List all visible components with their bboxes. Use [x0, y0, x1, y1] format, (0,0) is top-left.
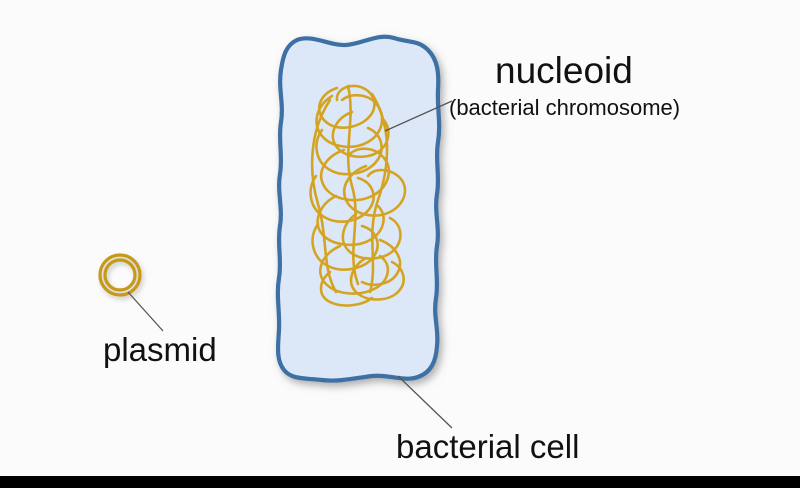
cell-membrane-path — [278, 37, 439, 381]
label-nucleoid-subtitle: (bacterial chromosome) — [449, 97, 680, 119]
bacterial-cell-illustration — [0, 0, 800, 488]
label-bacterial-cell: bacterial cell — [396, 430, 579, 463]
leader-line-plasmid — [128, 292, 163, 331]
label-plasmid: plasmid — [103, 333, 217, 366]
plasmid-inner-ring — [105, 260, 135, 290]
bottom-black-bar — [0, 476, 800, 488]
plasmid-ring-group — [100, 255, 140, 295]
diagram-canvas: nucleoid (bacterial chromosome) plasmid … — [0, 0, 800, 488]
bacterial-cell-group — [278, 37, 439, 381]
leader-line-bacterial-cell — [398, 376, 452, 428]
label-nucleoid: nucleoid — [495, 52, 633, 89]
